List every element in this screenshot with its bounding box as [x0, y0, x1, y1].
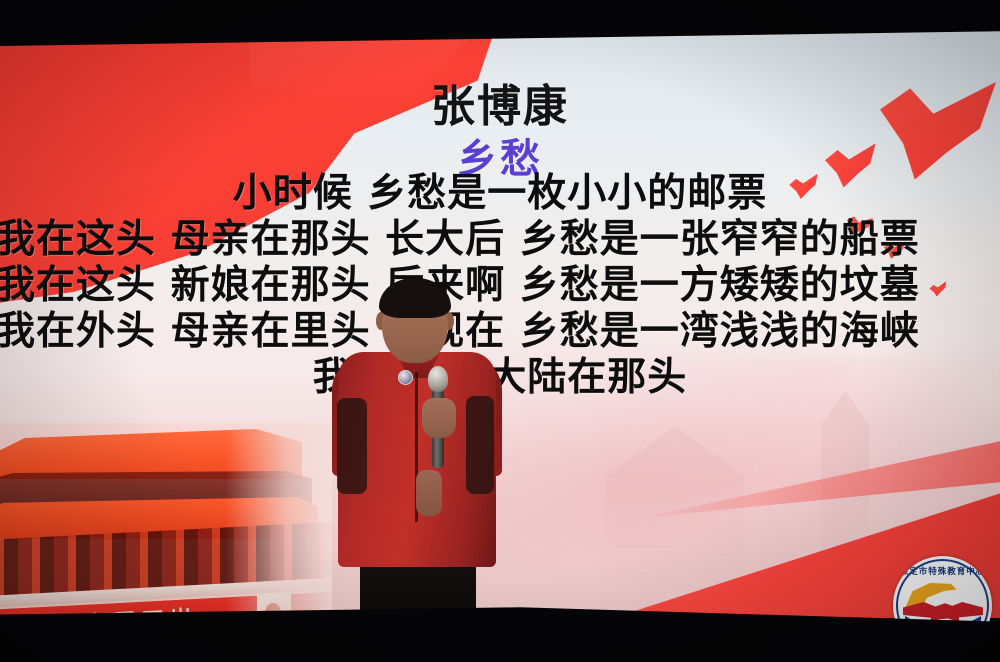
poem-line: 我在外头 母亲在里头 而现在 乡愁是一湾浅浅的海峡 [0, 309, 1000, 355]
poem-line: 小时候 乡愁是一枚小小的邮票 [0, 171, 1000, 217]
slide-author-name: 张博康 [0, 70, 1000, 134]
slide-text-layer: 张博康 乡愁 小时候 乡愁是一枚小小的邮票 我在这头 母亲在那头 长大后 乡愁是… [0, 28, 1000, 618]
projection-screen: 华人民共和国万岁 张博康 乡愁 小时候 乡愁是一枚小小的邮票 我在这头 母亲在那… [0, 28, 1000, 618]
poem-line: 我在这头 大陆在那头 [0, 355, 1000, 401]
stage-photo: 华人民共和国万岁 张博康 乡愁 小时候 乡愁是一枚小小的邮票 我在这头 母亲在那… [0, 0, 1000, 662]
poem-body: 小时候 乡愁是一枚小小的邮票 我在这头 母亲在那头 长大后 乡愁是一张窄窄的船票… [0, 171, 1000, 401]
poem-line: 我在这头 母亲在那头 长大后 乡愁是一张窄窄的船票 [0, 217, 1000, 263]
logo-chinese-name: 保定市特殊教育中心 [893, 565, 992, 577]
poem-line: 我在这头 新娘在那头 后来啊 乡愁是一方矮矮的坟墓 [0, 263, 1000, 309]
